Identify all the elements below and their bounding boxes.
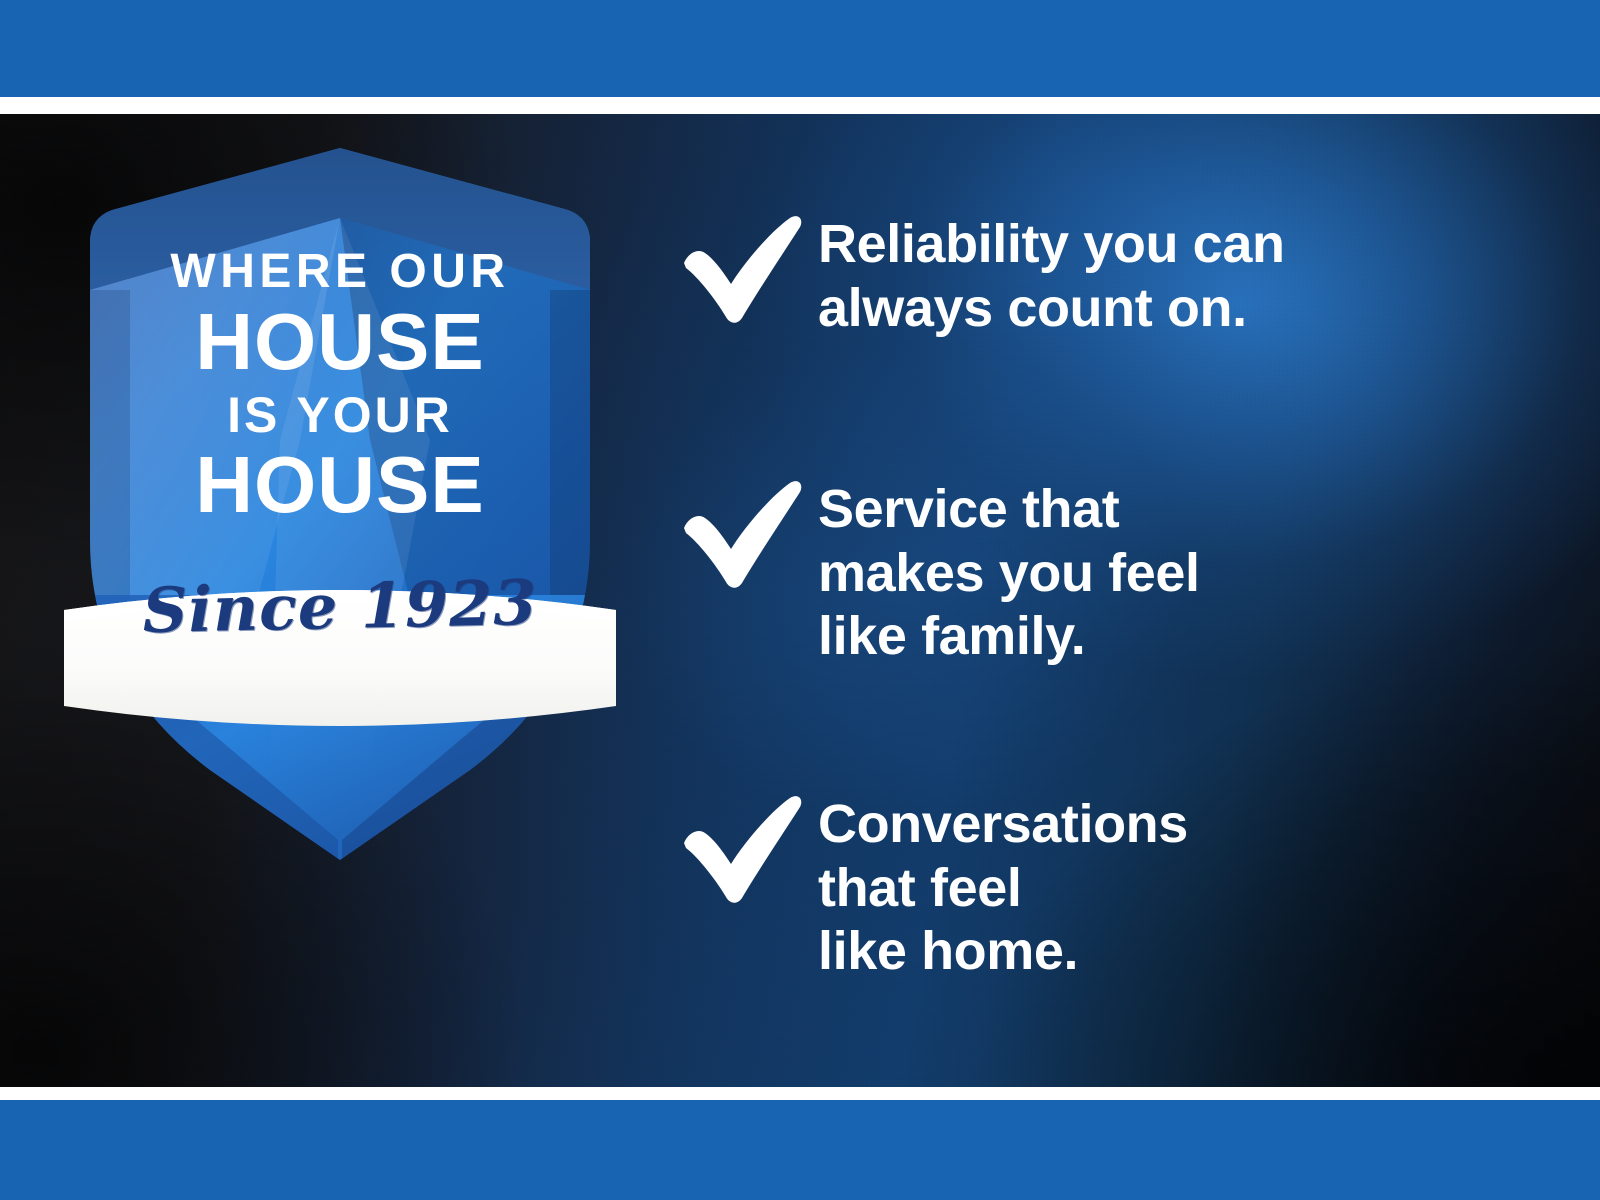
shield-badge-icon [70, 140, 610, 820]
benefit-line: Service that [818, 478, 1468, 542]
benefit-line: Reliability you can [818, 213, 1468, 277]
benefit-text: Service that makes you feel like family. [818, 474, 1468, 669]
bottom-brand-bar [0, 1100, 1600, 1200]
benefit-text: Reliability you can always count on. [818, 209, 1468, 340]
benefit-line: like home. [818, 920, 1468, 984]
checkmark-icon [678, 789, 818, 903]
promo-poster: WHERE OUR HOUSE IS YOUR HOUSE Since 1923… [0, 0, 1600, 1200]
benefit-line: makes you feel [818, 542, 1468, 606]
benefit-list: Reliability you can always count on. Ser… [678, 114, 1468, 1087]
benefit-item: Service that makes you feel like family. [678, 474, 1468, 669]
shield-ribbon [64, 590, 616, 726]
benefit-line: that feel [818, 857, 1468, 921]
checkmark-icon [678, 209, 818, 323]
benefit-item: Conversations that feel like home. [678, 789, 1468, 984]
benefit-line: always count on. [818, 277, 1468, 341]
benefit-item: Reliability you can always count on. [678, 209, 1468, 340]
benefit-line: Conversations [818, 793, 1468, 857]
top-brand-bar [0, 0, 1600, 97]
shield-badge: WHERE OUR HOUSE IS YOUR HOUSE Since 1923 [70, 140, 610, 820]
checkmark-icon [678, 474, 818, 588]
benefit-text: Conversations that feel like home. [818, 789, 1468, 984]
benefit-line: like family. [818, 605, 1468, 669]
